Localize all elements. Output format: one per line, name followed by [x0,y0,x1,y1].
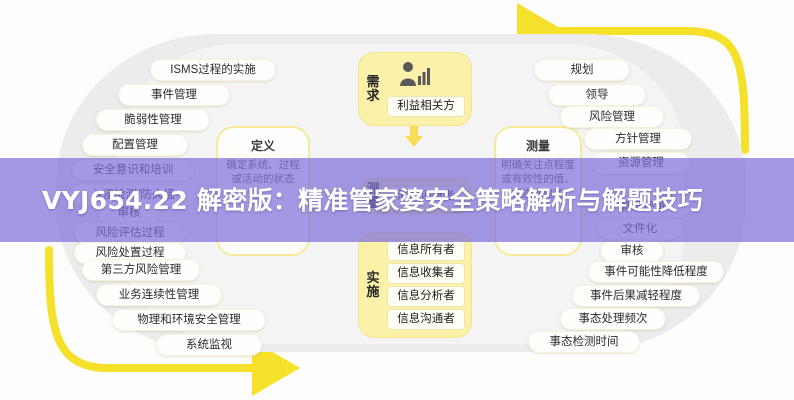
list-item[interactable]: 审核 [600,240,664,262]
list-item[interactable]: 事件可能性降低程度 [588,261,724,283]
define-box-title: 定义 [218,137,308,154]
implement-chip[interactable]: 信息分析者 [387,286,465,307]
list-item[interactable]: 方针管理 [584,128,692,150]
list-item[interactable]: 业务连续性管理 [96,284,222,306]
infographic-canvas: ISMS过程的实施 事件管理 脆弱性管理 配置管理 安全意识和培训 入侵检测/防… [0,0,794,400]
list-item[interactable]: 系统监视 [156,334,262,356]
title-banner: VYJ654.22 解密版：精准管家婆安全策略解析与解题技巧 [0,158,794,242]
banner-title: VYJ654.22 解密版：精准管家婆安全策略解析与解题技巧 [0,186,723,215]
list-item[interactable]: 规划 [534,59,630,81]
demand-card: 需求 利益相关方 [358,52,472,126]
implement-card-label: 实施 [365,271,381,299]
implement-card: 实施 信息所有者 信息收集者 信息分析者 信息沟通者 [358,232,472,338]
list-item[interactable]: 脆弱性管理 [96,109,210,131]
list-item[interactable]: 领导 [548,84,646,106]
arrow-down-icon [404,126,424,148]
person-chart-icon [397,61,433,87]
list-item[interactable]: 第三方风险管理 [82,259,200,281]
list-item[interactable]: 物理和环境安全管理 [112,309,266,331]
demand-card-label: 需求 [365,75,381,103]
list-item[interactable]: 事件管理 [118,84,230,106]
measure-box-title: 测量 [496,137,580,154]
list-item[interactable]: 配置管理 [82,134,188,156]
implement-chip[interactable]: 信息所有者 [387,240,465,261]
implement-chip[interactable]: 信息沟通者 [387,309,465,330]
list-item[interactable]: 事态处理频次 [560,308,666,330]
implement-chip[interactable]: 信息收集者 [387,263,465,284]
stakeholder-chip[interactable]: 利益相关方 [387,96,465,117]
list-item[interactable]: 事态检测时间 [528,331,640,353]
list-item[interactable]: 风险管理 [560,106,664,128]
list-item[interactable]: 事件后果减轻程度 [572,285,700,307]
list-item[interactable]: ISMS过程的实施 [150,59,276,81]
